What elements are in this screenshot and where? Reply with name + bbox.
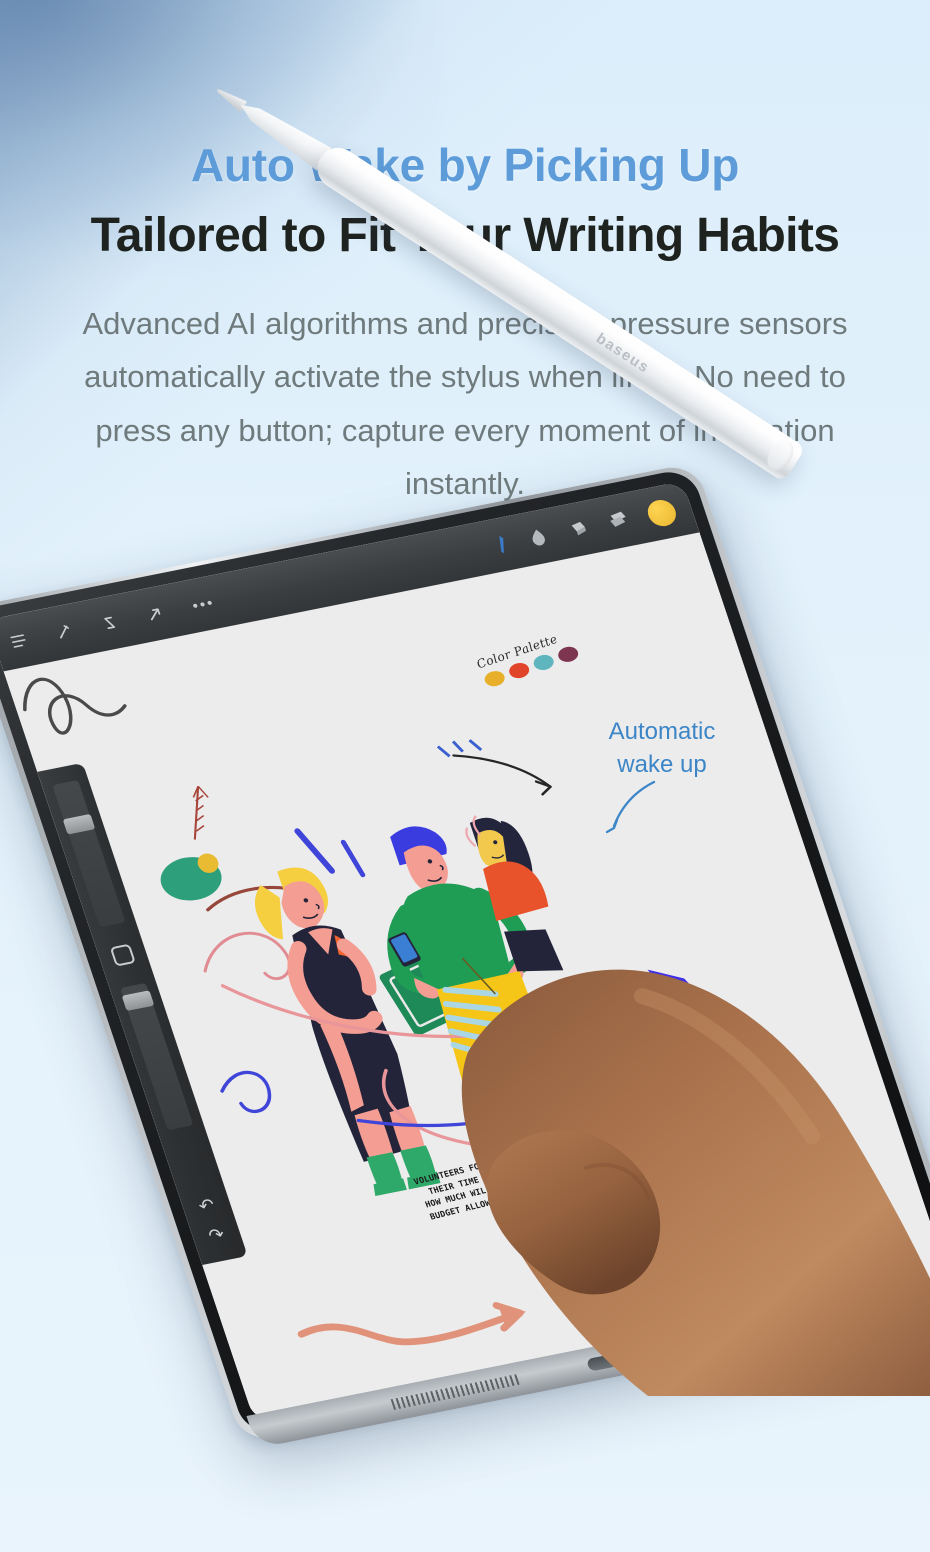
usb-c-port	[586, 1352, 626, 1371]
annotation-line-1: Automatic	[592, 716, 732, 749]
smudge-icon[interactable]	[527, 526, 551, 549]
annotation-automatic-wake-up: Automatic wake up	[592, 716, 732, 781]
coral-s-arrow	[301, 1290, 523, 1364]
eraser-icon[interactable]	[564, 519, 589, 540]
undo-icon[interactable]: ↶	[196, 1195, 218, 1218]
headline-secondary: Tailored to Fit Your Writing Habits	[0, 208, 930, 263]
yellow-scribble	[714, 1178, 824, 1208]
blue-stroke-2	[343, 841, 362, 877]
transform-icon[interactable]	[145, 605, 166, 623]
brush-size-knob[interactable]	[63, 814, 96, 835]
curved-down-arrow-icon	[596, 778, 660, 840]
hatched-red-arrow	[178, 785, 220, 839]
more-options-icon[interactable]: •••	[190, 595, 216, 614]
body-paragraph: Advanced AI algorithms and precision pre…	[50, 297, 880, 510]
selection-icon[interactable]	[99, 614, 120, 632]
tablet-device: Color Palette VOLUNTEERS FOR THEIR TIME …	[0, 608, 930, 1552]
tablet-screen: Color Palette VOLUNTEERS FOR THEIR TIME …	[0, 481, 930, 1422]
gallery-icon[interactable]	[8, 632, 29, 650]
hero-text-block: Auto Wake by Picking Up Tailored to Fit …	[0, 0, 930, 510]
blue-pencil-illustration	[648, 946, 838, 1184]
brush-opacity-knob[interactable]	[122, 990, 155, 1011]
black-curve-arrow	[454, 739, 551, 803]
dark-wave-squiggle	[16, 665, 129, 738]
blue-squiggle-left	[218, 1069, 275, 1117]
layers-icon[interactable]	[604, 510, 632, 533]
annotation-line-2: wake up	[592, 749, 732, 782]
redo-icon[interactable]: ↷	[206, 1224, 228, 1247]
adjustments-icon[interactable]	[54, 623, 75, 641]
blue-stroke-1	[298, 827, 332, 875]
headline-primary: Auto Wake by Picking Up	[0, 138, 930, 192]
yellow-zigzag	[694, 1144, 774, 1185]
blue-tick-marks	[437, 737, 481, 758]
shape-button[interactable]	[110, 944, 136, 967]
